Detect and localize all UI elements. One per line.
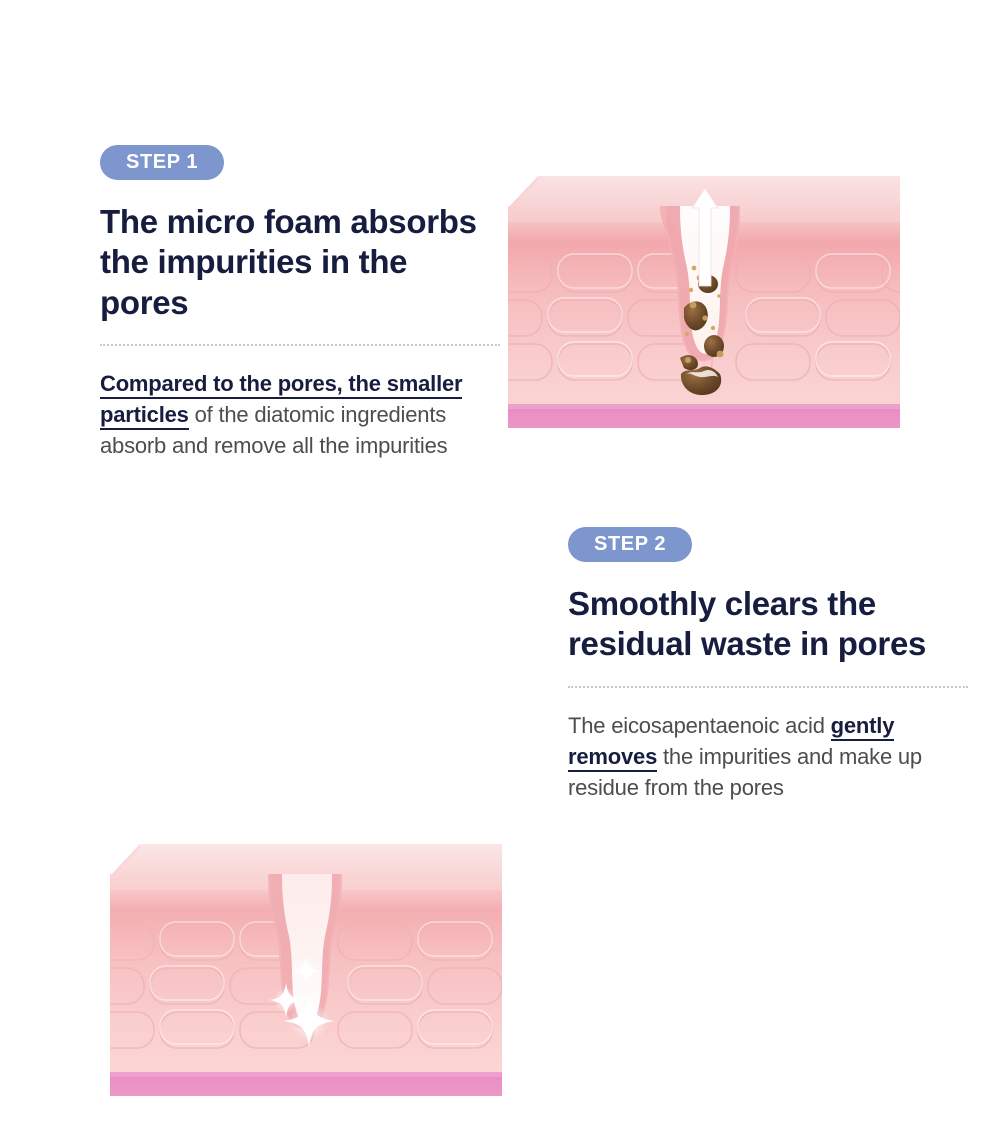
step-2-body: The eicosapentaenoic acid gently removes… [568, 710, 968, 804]
step-2-headline: Smoothly clears the residual waste in po… [568, 584, 968, 665]
step-2-badge: STEP 2 [568, 527, 692, 562]
step-1-illustration [508, 168, 900, 453]
step-1-text-column: STEP 1 The micro foam absorbs the impuri… [100, 145, 500, 461]
step-1-headline: The micro foam absorbs the impurities in… [100, 202, 500, 323]
step-2-illustration [110, 836, 502, 1121]
step-2-body-lead: The eicosapentaenoic acid [568, 713, 831, 738]
step-2-divider [568, 686, 968, 688]
step-1-badge: STEP 1 [100, 145, 224, 180]
infographic-page: STEP 1 The micro foam absorbs the impuri… [0, 0, 1000, 1000]
skin-clogged-pore-svg [508, 168, 900, 453]
skin-clean-pore-svg [110, 836, 502, 1121]
step-1-body: Compared to the pores, the smaller parti… [100, 368, 500, 462]
step-2-text-column: STEP 2 Smoothly clears the residual wast… [568, 527, 968, 803]
step-1-divider [100, 344, 500, 346]
